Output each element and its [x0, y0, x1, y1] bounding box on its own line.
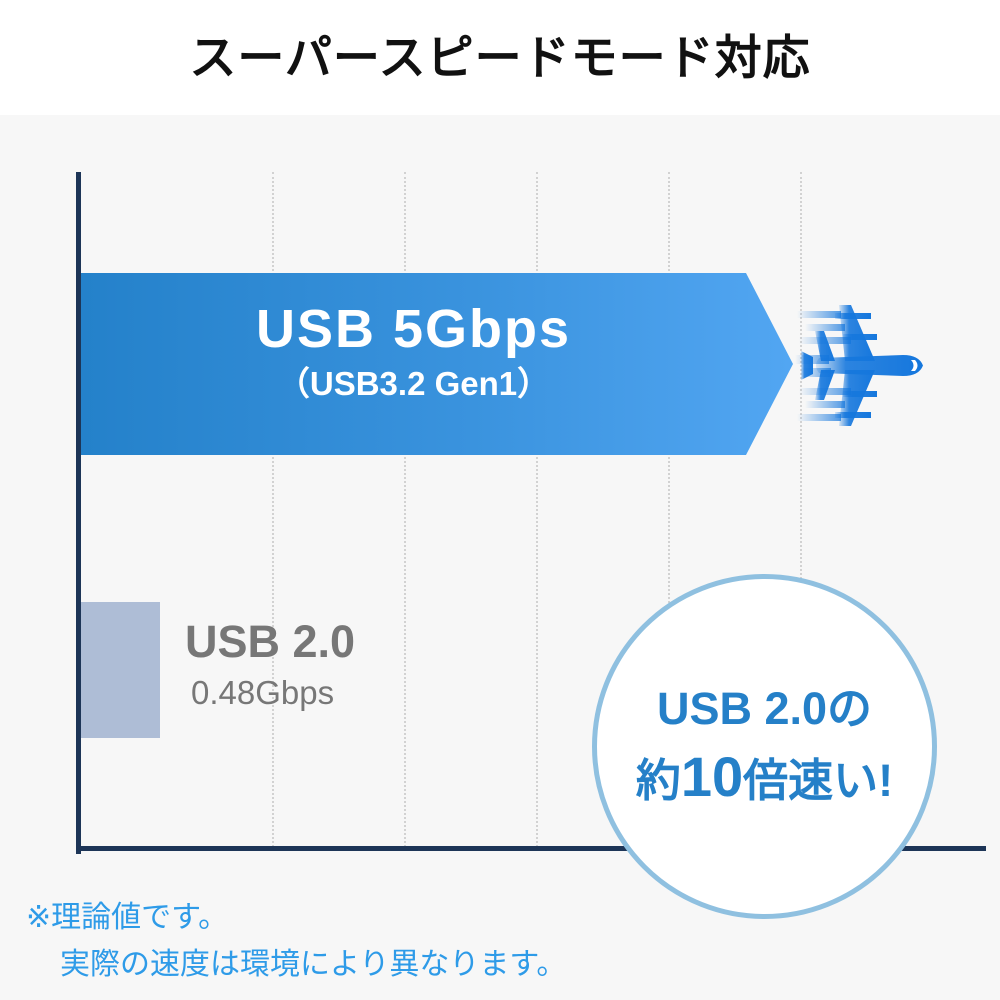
page-title: スーパースピードモード対応	[189, 34, 810, 81]
bar-usb-2	[81, 602, 160, 738]
callout-multiplier: 10	[681, 745, 743, 808]
callout-line-2: 約10倍速い!	[636, 745, 893, 809]
footnote-line-1: ※理論値です。	[26, 895, 566, 942]
bar-usb-5gbps-fill	[81, 273, 793, 455]
bar-usb-5gbps: USB 5Gbps （USB3.2 Gen1）	[81, 273, 793, 455]
bar-usb-2-subtitle: 0.48Gbps	[191, 673, 445, 713]
callout-line-1: USB 2.0の	[657, 683, 872, 735]
callout-suffix: 倍速い!	[743, 755, 893, 806]
page-header: スーパースピードモード対応	[0, 0, 1000, 115]
bar-usb-2-labels: USB 2.0 0.48Gbps	[185, 618, 445, 713]
callout-prefix: 約	[636, 755, 681, 806]
bar-usb-2-title: USB 2.0	[185, 618, 445, 665]
footnote-line-2: 実際の速度は環境により異なります。	[60, 942, 566, 989]
footnote: ※理論値です。 実際の速度は環境により異なります。	[26, 895, 566, 988]
speed-comparison-callout: USB 2.0の 約10倍速い!	[592, 574, 937, 919]
speed-comparison-chart: USB 5Gbps （USB3.2 Gen1）	[0, 115, 1000, 1000]
airplane-icon	[795, 293, 945, 438]
